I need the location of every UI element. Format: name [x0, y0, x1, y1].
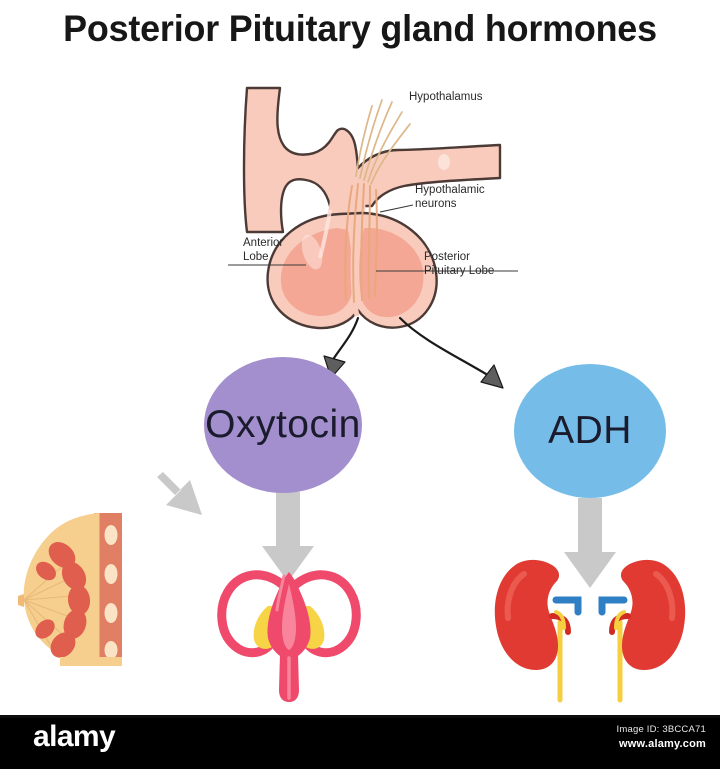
image-id-text: Image ID: 3BCCA71 [617, 724, 706, 735]
hormone-release-arrows [324, 318, 503, 388]
label-hypothalamus: Hypothalamus [409, 91, 483, 105]
arrow-oxytocin-to-breast [157, 472, 202, 515]
alamy-url-text: www.alamy.com [619, 738, 706, 750]
uterus-illustration [222, 572, 357, 702]
arrow-oxytocin-to-uterus [262, 492, 314, 582]
label-hypothalamic-neurons: Hypothalamic neurons [415, 184, 485, 211]
hormone-node-oxytocin: Oxytocin [204, 357, 362, 493]
arrow-to-adh [400, 318, 486, 374]
label-anterior-lobe: Anterior Lobe [243, 237, 283, 264]
hormone-label-oxytocin: Oxytocin [205, 403, 361, 447]
nipple [18, 594, 24, 607]
breast-base [60, 657, 122, 666]
arrow-to-adh-head [481, 365, 503, 388]
hormone-node-adh: ADH [514, 364, 666, 498]
leader-hypothalamic-neurons [380, 205, 413, 212]
renal-veins [556, 600, 624, 612]
hypothalamus-highlight [438, 154, 450, 170]
alamy-logo: alamy [33, 722, 115, 752]
diagram-canvas: Posterior Pituitary gland hormones [0, 0, 720, 769]
pituitary-hormone-diagram [0, 0, 720, 715]
arrow-adh-to-kidneys [564, 498, 616, 588]
breast-illustration [18, 513, 122, 666]
label-posterior-pituitary-lobe: Posterior Pituitary Lobe [424, 251, 494, 278]
hormone-label-adh: ADH [548, 409, 632, 453]
footer-divider [0, 715, 720, 718]
